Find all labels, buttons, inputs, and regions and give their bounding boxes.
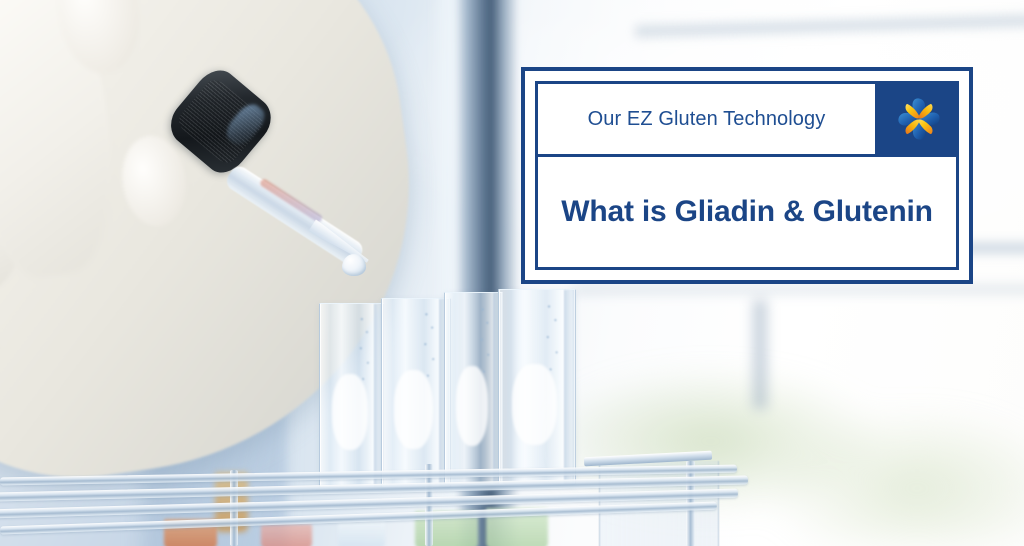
- cuvette-label-patch: [456, 366, 489, 446]
- cuvette-edge-highlight: [564, 290, 572, 484]
- headline-text: What is Gliadin & Glutenin: [561, 195, 932, 229]
- glove-finger-5: [0, 293, 7, 408]
- liquid-droplet: [342, 254, 366, 276]
- glove-fingertip: [117, 132, 192, 231]
- cuvette-3: [444, 292, 502, 485]
- cuvette-4: [498, 289, 577, 485]
- pink-tube: [261, 524, 312, 546]
- eyebrow-text: Our EZ Gluten Technology: [588, 108, 826, 131]
- background-table-leg: [753, 300, 767, 409]
- cuvette-label-patch: [394, 370, 433, 449]
- ez-gluten-x-logo-icon: [892, 92, 946, 146]
- cuvette-1: [319, 303, 383, 488]
- callout-banner: Our EZ Gluten Technology: [521, 67, 973, 284]
- banner-top-row: Our EZ Gluten Technology: [535, 81, 959, 157]
- cuvette-2: [381, 298, 451, 488]
- cuvette-edge-highlight: [374, 304, 381, 487]
- cuvette-label-patch: [332, 374, 368, 451]
- logo-panel: [878, 81, 959, 157]
- eyebrow-box: Our EZ Gluten Technology: [535, 81, 878, 157]
- cuvette-label-patch: [512, 364, 557, 445]
- background-bench-line-2: [573, 284, 1024, 295]
- headline-box: What is Gliadin & Glutenin: [535, 157, 959, 270]
- clear-tube: [338, 521, 385, 546]
- callout-banner-inner: Our EZ Gluten Technology: [535, 81, 959, 270]
- screenshot-root: Our EZ Gluten Technology: [0, 0, 1024, 546]
